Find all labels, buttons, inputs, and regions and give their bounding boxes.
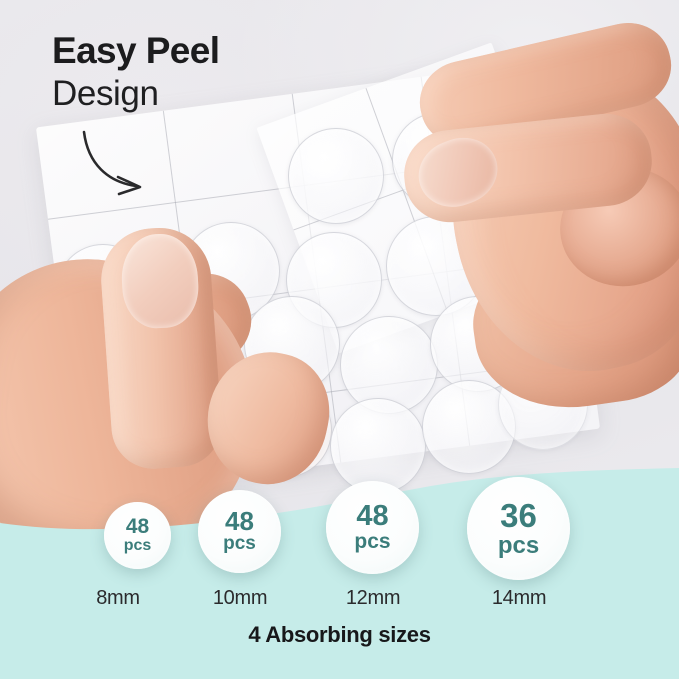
size-badge-14mm: 36 pcs: [467, 477, 570, 580]
badge-count: 36: [500, 500, 537, 532]
badge-unit: pcs: [124, 538, 152, 554]
badge-unit: pcs: [223, 535, 256, 554]
badge-count: 48: [356, 502, 388, 530]
footer-caption: 4 Absorbing sizes: [0, 622, 679, 648]
size-label-12mm: 12mm: [328, 587, 418, 610]
size-badge-8mm: 48 pcs: [104, 502, 171, 569]
badge-unit: pcs: [498, 534, 539, 558]
size-label-14mm: 14mm: [470, 587, 568, 610]
headline-line-1: Easy Peel: [52, 32, 219, 70]
badge-unit: pcs: [354, 532, 390, 553]
headline-line-2: Design: [52, 76, 219, 112]
badge-count: 48: [126, 517, 149, 538]
size-label-8mm: 8mm: [78, 587, 158, 610]
curved-arrow-icon: [78, 120, 208, 205]
size-badge-10mm: 48 pcs: [198, 490, 281, 573]
size-badge-12mm: 48 pcs: [326, 481, 419, 574]
badge-count: 48: [225, 509, 254, 534]
size-label-10mm: 10mm: [198, 587, 282, 610]
product-feature-image: Easy Peel Design 48 pcs 48 pcs 48 pcs 36…: [0, 0, 679, 679]
page-title: Easy Peel Design: [52, 32, 219, 111]
